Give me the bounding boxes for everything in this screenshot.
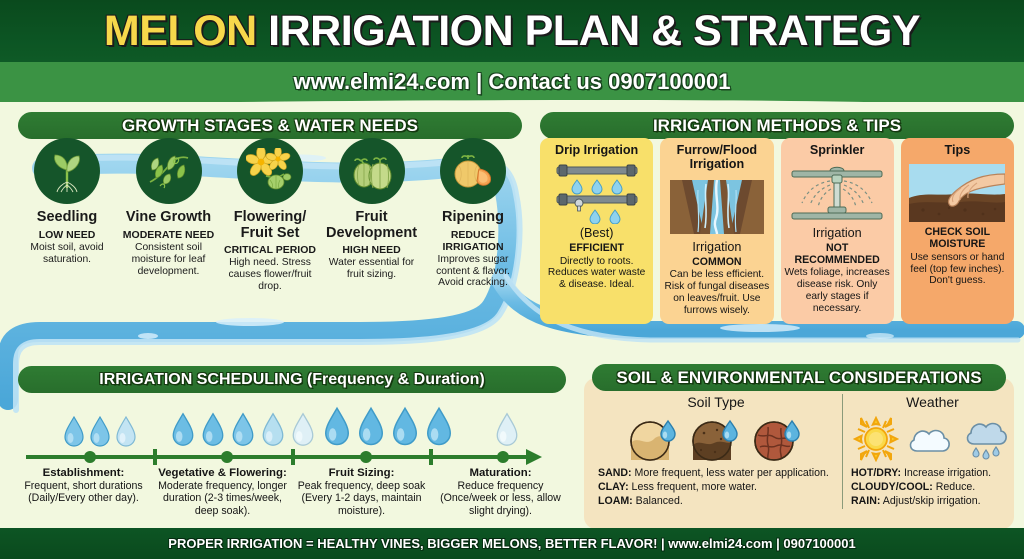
card-title: Furrow/Flood Irrigation	[664, 144, 769, 172]
card-body: Use sensors or hand feel (top few inches…	[905, 252, 1010, 288]
water-drop-icon	[424, 405, 454, 449]
growth-stages-section: Seedling LOW NEED Moist soil, avoid satu…	[14, 138, 526, 318]
furrow-field-icon	[664, 175, 769, 239]
water-drop-icon	[230, 411, 256, 449]
title-rest: IRRIGATION PLAN & STRATEGY	[268, 7, 920, 55]
stage-need: CRITICAL PERIOD	[221, 245, 319, 257]
stage-name: Fruit Development	[323, 210, 421, 241]
title-highlight: MELON	[104, 7, 257, 55]
card-title: Sprinkler	[785, 144, 890, 158]
water-drop-icon	[390, 405, 420, 449]
soil-note-sand: SAND: More frequent, less water per appl…	[598, 466, 842, 480]
water-drop-icon	[88, 415, 112, 449]
growth-stage-fruit-development: Fruit Development HIGH NEED Water essent…	[323, 138, 421, 293]
stage-name: Flowering/ Fruit Set	[221, 210, 319, 241]
phase-desc: Reduce frequency (Once/week or less, all…	[431, 480, 570, 517]
phase-desc: Moderate frequency, longer duration (2-3…	[153, 480, 292, 517]
card-title: Drip Irrigation	[544, 144, 649, 158]
card-caption: EFFICIENT	[544, 243, 649, 255]
growth-stage-ripening: Ripening REDUCE IRRIGATION Improves suga…	[424, 138, 522, 293]
weather-heading: Weather	[851, 394, 1014, 410]
water-drop-icon	[200, 411, 226, 449]
soil-note-text: Less frequent, more water.	[629, 481, 757, 493]
phase-desc: Peak frequency, deep soak (Every 1-2 day…	[292, 480, 431, 517]
stage-desc: Improves sugar content & flavor. Avoid c…	[424, 254, 522, 290]
stage-desc: High need. Stress causes flower/fruit dr…	[221, 257, 319, 293]
water-drop-icon	[260, 411, 286, 449]
timeline-tick	[153, 449, 157, 465]
seedling-icon	[34, 138, 100, 204]
weather-note-text: Increase irrigation.	[901, 467, 991, 479]
method-card-sprinkler[interactable]: Sprinkler	[781, 138, 894, 324]
method-card-drip[interactable]: Drip Irrigation	[540, 138, 653, 324]
growth-stage-seedling: Seedling LOW NEED Moist soil, avoid satu…	[18, 138, 116, 293]
soil-type-column: Soil Type	[584, 394, 842, 509]
timeline-arrow-icon	[526, 449, 542, 465]
weather-note-rain: RAIN: Adjust/skip irrigation.	[851, 494, 1014, 508]
method-card-tips[interactable]: Tips	[901, 138, 1014, 324]
droplet-row	[14, 394, 570, 449]
weather-notes: HOT/DRY: Increase irrigation. CLOUDY/COO…	[851, 466, 1014, 509]
phase-title: Maturation:	[431, 467, 570, 480]
weather-note-text: Adjust/skip irrigation.	[880, 495, 980, 507]
weather-note-hot-dry: HOT/DRY: Increase irrigation.	[851, 466, 1014, 480]
card-subtitle: (Best)	[544, 227, 649, 241]
timeline-axis	[26, 455, 526, 459]
method-card-furrow[interactable]: Furrow/Flood Irrigation	[660, 138, 773, 324]
schedule-phase-vegetative: Vegetative & Flowering: Moderate frequen…	[153, 467, 292, 517]
soil-note-label: CLAY:	[598, 481, 629, 493]
flower-icon	[237, 138, 303, 204]
water-drop-icon	[62, 415, 86, 449]
card-caption: COMMON	[664, 257, 769, 269]
timeline-tick	[291, 449, 295, 465]
timeline-dot	[84, 451, 96, 463]
infographic-page: MELON IRRIGATION PLAN & STRATEGY www.elm…	[0, 0, 1024, 559]
weather-column: Weather	[842, 394, 1014, 509]
growth-stage-flowering: Flowering/ Fruit Set CRITICAL PERIOD Hig…	[221, 138, 319, 293]
soil-note-text: Balanced.	[633, 495, 683, 507]
growth-stages-banner-label: GROWTH STAGES & WATER NEEDS	[122, 116, 418, 136]
loam-soil-icon	[690, 415, 742, 463]
soil-environment-section: SOIL & ENVIRONMENTAL CONSIDERATIONS Soil…	[584, 364, 1014, 529]
weather-note-label: RAIN:	[851, 495, 880, 507]
timeline-dot	[221, 451, 233, 463]
stage-need: HIGH NEED	[323, 245, 421, 257]
young-melon-icon	[339, 138, 405, 204]
soil-note-label: SAND:	[598, 467, 632, 479]
water-drop-icon	[356, 405, 386, 449]
stage-need: MODERATE NEED	[120, 230, 218, 242]
drip-pipe-icon	[544, 161, 649, 225]
weather-note-label: HOT/DRY:	[851, 467, 901, 479]
header-subtitle-bar: www.elmi24.com | Contact us 0907100001	[0, 62, 1024, 102]
scheduling-banner: IRRIGATION SCHEDULING (Frequency & Durat…	[18, 366, 566, 393]
stage-desc: Water essential for fruit sizing.	[323, 257, 421, 281]
footer-banner: PROPER IRRIGATION = HEALTHY VINES, BIGGE…	[0, 528, 1024, 559]
ripe-melon-icon	[440, 138, 506, 204]
timeline-tick	[429, 449, 433, 465]
weather-note-cloudy-cool: CLOUDY/COOL: Reduce.	[851, 480, 1014, 494]
soil-type-notes: SAND: More frequent, less water per appl…	[590, 466, 842, 509]
card-subtitle: Irrigation	[664, 241, 769, 255]
stage-need: LOW NEED	[18, 230, 116, 242]
soil-note-label: LOAM:	[598, 495, 633, 507]
scheduling-banner-label: IRRIGATION SCHEDULING (Frequency & Durat…	[99, 371, 485, 389]
soil-note-text: More frequent, less water per applicatio…	[632, 467, 829, 479]
stage-need: REDUCE IRRIGATION	[424, 230, 522, 254]
timeline-dot	[497, 451, 509, 463]
soil-note-clay: CLAY: Less frequent, more water.	[598, 480, 842, 494]
card-caption: NOT RECOMMENDED	[785, 243, 890, 267]
schedule-phase-maturation: Maturation: Reduce frequency (Once/week …	[431, 467, 570, 517]
card-caption: CHECK SOIL MOISTURE	[905, 227, 1010, 251]
growth-stage-vine-growth: Vine Growth MODERATE NEED Consistent soi…	[120, 138, 218, 293]
weather-note-label: CLOUDY/COOL:	[851, 481, 933, 493]
phase-title: Vegetative & Flowering:	[153, 467, 292, 480]
soil-banner: SOIL & ENVIRONMENTAL CONSIDERATIONS	[592, 364, 1006, 391]
water-drop-icon	[114, 415, 138, 449]
scheduling-section: Establishment: Frequent, short durations…	[14, 394, 570, 517]
soil-banner-label: SOIL & ENVIRONMENTAL CONSIDERATIONS	[616, 368, 981, 388]
contact-line: www.elmi24.com | Contact us 0907100001	[294, 69, 731, 95]
card-subtitle: Irrigation	[785, 227, 890, 241]
methods-section: Drip Irrigation	[540, 138, 1014, 324]
sand-soil-icon	[628, 415, 680, 463]
header-banner: MELON IRRIGATION PLAN & STRATEGY	[0, 0, 1024, 62]
schedule-phase-fruit-sizing: Fruit Sizing: Peak frequency, deep soak …	[292, 467, 431, 517]
scheduling-timeline	[14, 449, 570, 463]
water-drop-icon	[494, 411, 520, 449]
card-body: Can be less efficient. Risk of fungal di…	[664, 269, 769, 317]
rain-cloud-icon	[961, 416, 1013, 462]
water-drop-icon	[170, 411, 196, 449]
methods-banner: IRRIGATION METHODS & TIPS	[540, 112, 1014, 139]
vine-icon	[136, 138, 202, 204]
stage-desc: Consistent soil moisture for leaf develo…	[120, 242, 218, 278]
hand-soil-icon	[905, 161, 1010, 225]
water-drop-icon	[290, 411, 316, 449]
phase-title: Fruit Sizing:	[292, 467, 431, 480]
clay-soil-icon	[752, 415, 804, 463]
stage-name: Seedling	[18, 210, 116, 226]
sprinkler-icon	[785, 161, 890, 225]
cloud-icon	[905, 419, 955, 459]
schedule-phase-establishment: Establishment: Frequent, short durations…	[14, 467, 153, 517]
sun-icon	[853, 416, 899, 462]
footer-text: PROPER IRRIGATION = HEALTHY VINES, BIGGE…	[168, 536, 855, 551]
stage-name: Vine Growth	[120, 210, 218, 226]
phase-title: Establishment:	[14, 467, 153, 480]
soil-note-loam: LOAM: Balanced.	[598, 494, 842, 508]
stage-name: Ripening	[424, 210, 522, 226]
soil-type-heading: Soil Type	[590, 394, 842, 410]
water-drop-icon	[322, 405, 352, 449]
growth-stages-banner: GROWTH STAGES & WATER NEEDS	[18, 112, 522, 139]
timeline-dot	[360, 451, 372, 463]
page-title: MELON IRRIGATION PLAN & STRATEGY	[104, 7, 920, 56]
stage-desc: Moist soil, avoid saturation.	[18, 242, 116, 266]
weather-note-text: Reduce.	[933, 481, 975, 493]
phase-desc: Frequent, short durations (Daily/Every o…	[14, 480, 153, 505]
card-body: Directly to roots. Reduces water waste &…	[544, 256, 649, 292]
methods-banner-label: IRRIGATION METHODS & TIPS	[653, 116, 901, 136]
card-title: Tips	[905, 144, 1010, 158]
card-body: Wets foliage, increases disease risk. On…	[785, 267, 890, 315]
